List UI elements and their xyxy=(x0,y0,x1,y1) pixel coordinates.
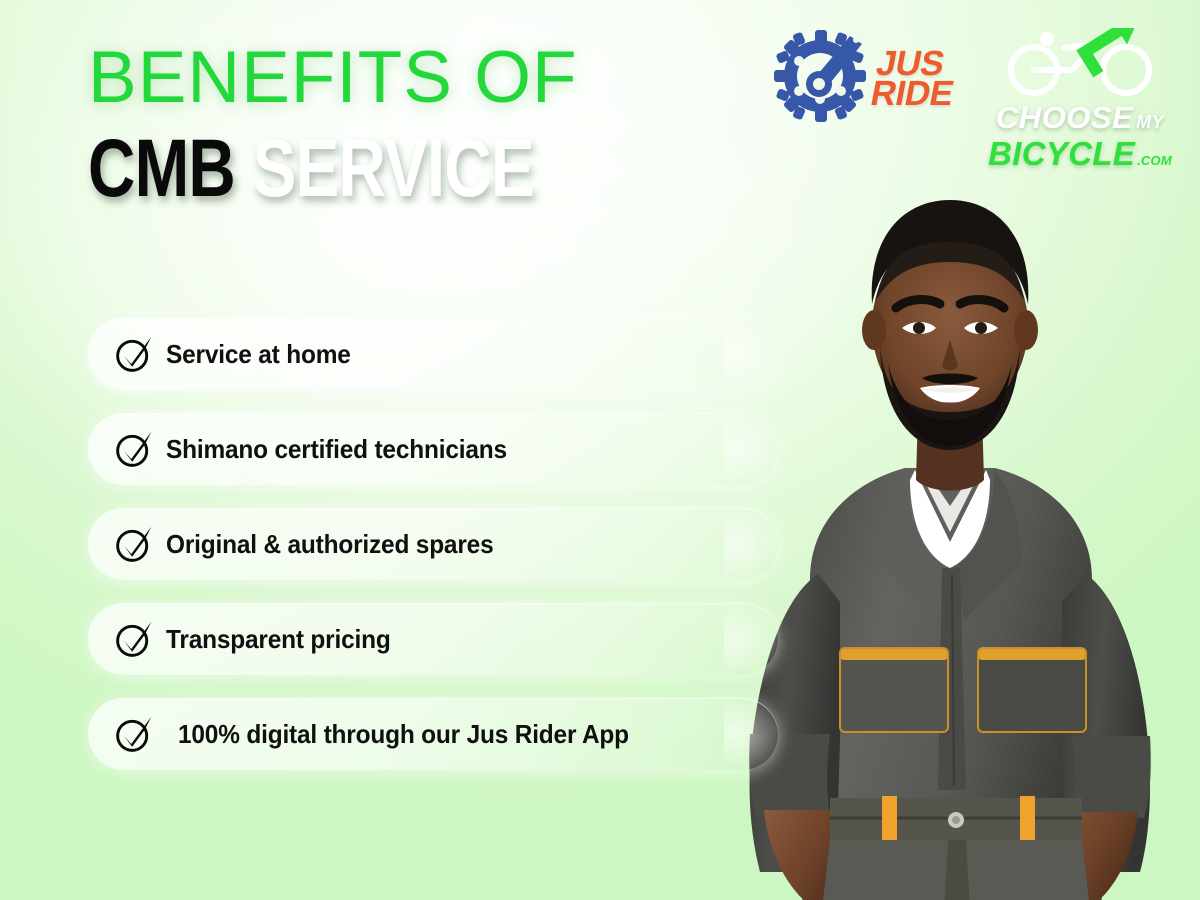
chainring-crank-icon xyxy=(772,28,868,131)
circled-check-icon xyxy=(114,524,154,564)
circled-check-icon xyxy=(114,334,154,374)
poster-canvas: BENEFITS OF CMBSERVICE xyxy=(0,0,1200,900)
headline-brand: CMB xyxy=(88,123,235,214)
jusride-line-2: RIDE xyxy=(869,80,956,110)
headline-word: SERVICE xyxy=(253,123,534,214)
benefit-item[interactable]: Service at home xyxy=(88,318,778,390)
choosemybicycle-line-1: CHOOSE MY xyxy=(996,100,1164,136)
benefit-label: Service at home xyxy=(166,339,351,370)
headline-block: BENEFITS OF CMBSERVICE xyxy=(88,42,645,207)
cmb-dotcom-text: .COM xyxy=(1137,153,1172,168)
benefit-label: Transparent pricing xyxy=(166,624,391,655)
bicycle-arrow-icon xyxy=(1000,28,1160,101)
benefit-item[interactable]: 100% digital through our Jus Rider App xyxy=(88,698,778,770)
jusride-wordmark: JUS RIDE xyxy=(869,49,962,109)
cmb-my-text: MY xyxy=(1136,112,1164,133)
cmb-choose-text: CHOOSE xyxy=(996,100,1133,136)
jusride-logo[interactable]: JUS RIDE xyxy=(772,28,956,131)
benefit-label: Original & authorized spares xyxy=(166,529,493,560)
logo-group: JUS RIDE CHOOSE MY xyxy=(772,28,1170,173)
benefit-item[interactable]: Original & authorized spares xyxy=(88,508,778,580)
choosemybicycle-line-2: BICYCLE .COM xyxy=(988,135,1172,173)
benefit-item[interactable]: Shimano certified technicians xyxy=(88,413,778,485)
headline-line-1: BENEFITS OF xyxy=(88,42,645,114)
circled-check-icon xyxy=(114,619,154,659)
benefit-item[interactable]: Transparent pricing xyxy=(88,603,778,675)
benefit-label: Shimano certified technicians xyxy=(166,434,507,465)
headline-line-2: CMBSERVICE xyxy=(88,130,534,208)
circled-check-icon xyxy=(114,429,154,469)
choosemybicycle-logo[interactable]: CHOOSE MY BICYCLE .COM xyxy=(990,28,1170,173)
circled-check-icon xyxy=(114,714,154,754)
cmb-bicycle-text: BICYCLE xyxy=(988,135,1135,173)
benefit-label: 100% digital through our Jus Rider App xyxy=(178,719,629,750)
benefits-list: Service at home Shimano certified techni… xyxy=(88,318,778,793)
